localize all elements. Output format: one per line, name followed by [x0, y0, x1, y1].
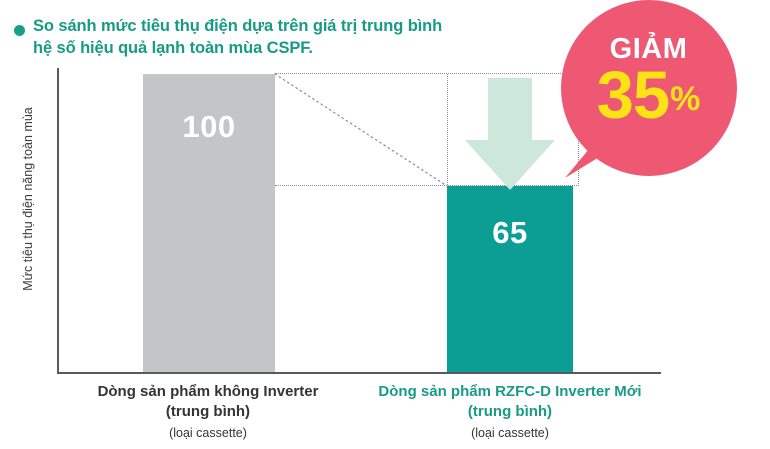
bar-value-rzfcd-inverter: 65	[447, 215, 573, 251]
down-arrow-icon	[465, 78, 555, 190]
category-main-line1-rzfcd-inverter: Dòng sản phẩm RZFC-D Inverter Mới	[378, 383, 641, 400]
category-label-rzfcd-inverter: Dòng sản phẩm RZFC-D Inverter Mới(trung …	[355, 382, 665, 441]
bullet-icon	[14, 25, 25, 36]
discount-badge: GIẢM 35%	[561, 0, 766, 182]
category-sub-rzfcd-inverter: (loại cassette)	[355, 426, 665, 441]
heading-line-2: hệ số hiệu quả lạnh toàn mùa CSPF.	[33, 39, 313, 57]
category-main-no-inverter: Dòng sản phẩm không Inverter(trung bình)	[63, 382, 353, 422]
heading-line-1: So sánh mức tiêu thụ điện dựa trên giá t…	[33, 17, 442, 35]
bar-value-no-inverter: 100	[143, 109, 275, 145]
category-label-no-inverter: Dòng sản phẩm không Inverter(trung bình)…	[63, 382, 353, 441]
y-axis-title: Mức tiêu thụ điện năng toàn mùa	[21, 69, 35, 329]
x-axis-line	[57, 372, 661, 374]
guide-line-left-vertical	[447, 74, 448, 187]
chart-heading: So sánh mức tiêu thụ điện dựa trên giá t…	[14, 16, 554, 60]
category-main-rzfcd-inverter: Dòng sản phẩm RZFC-D Inverter Mới(trung …	[355, 382, 665, 422]
category-sub-no-inverter: (loại cassette)	[63, 426, 353, 441]
guide-line-diagonal	[275, 74, 447, 186]
bar-rzfcd-inverter: 65	[447, 186, 573, 372]
chart-infographic: So sánh mức tiêu thụ điện dựa trên giá t…	[0, 0, 770, 449]
badge-bubble-shape	[561, 0, 766, 182]
y-axis-line	[57, 68, 59, 374]
bar-no-inverter: 100	[143, 74, 275, 372]
category-main-line1-no-inverter: Dòng sản phẩm không Inverter	[98, 383, 319, 400]
category-main-line2-no-inverter: (trung bình)	[166, 403, 250, 420]
heading-text: So sánh mức tiêu thụ điện dựa trên giá t…	[14, 16, 554, 60]
category-main-line2-rzfcd-inverter: (trung bình)	[468, 403, 552, 420]
